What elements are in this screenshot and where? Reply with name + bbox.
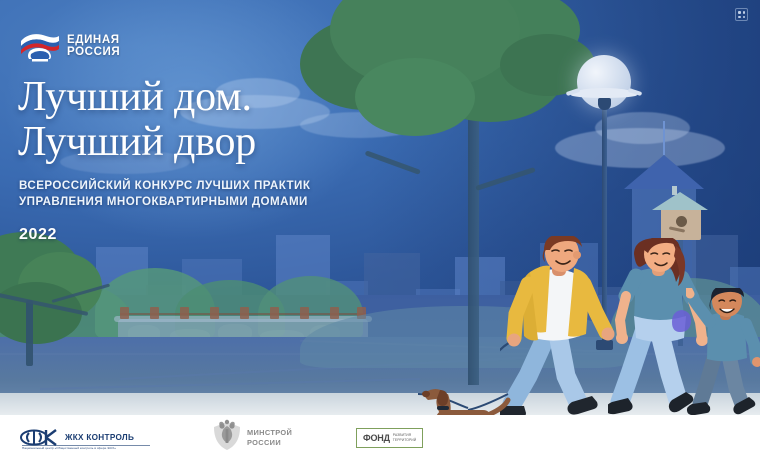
street-lamp-neck <box>598 98 611 110</box>
brand-logo-text: ЕДИНАЯ РОССИЯ <box>67 35 120 58</box>
minstroy-logo[interactable]: МИНСТРОЙ РОССИИ <box>212 419 292 456</box>
birdhouse-roof <box>652 192 708 210</box>
subtitle-line-2: УПРАВЛЕНИЯ МНОГОКВАРТИРНЫМИ ДОМАМИ <box>19 194 409 210</box>
page-title: Лучший дом. Лучший двор <box>18 75 418 165</box>
tower-spire <box>663 121 665 155</box>
footer-bar: ЖКХ КОНТРОЛЬ Национальный центр «Обществ… <box>0 415 760 460</box>
minstroy-text: МИНСТРОЙ РОССИИ <box>247 428 292 448</box>
zhkh-kontrol-logo[interactable]: ЖКХ КОНТРОЛЬ Национальный центр «Обществ… <box>20 429 134 446</box>
poster-text-block: ЕДИНАЯ РОССИЯ Лучший дом. Лучший двор ВС… <box>0 0 420 415</box>
subtitle-line-1: ВСЕРОССИЙСКИЙ КОНКУРС ЛУЧШИХ ПРАКТИК <box>19 178 409 194</box>
fond-word: ФОНД <box>363 433 390 443</box>
zhkh-kontrol-divider <box>22 445 150 446</box>
title-line-2: Лучший двор <box>18 120 418 165</box>
fond-subtext: РАЗВИТИЯ ТЕРРИТОРИЙ <box>393 433 416 442</box>
tree-trunk <box>468 95 479 385</box>
united-russia-bear-emblem-icon <box>20 30 60 64</box>
street-lamp-shade <box>571 88 637 98</box>
fond-logo[interactable]: ФОНД РАЗВИТИЯ ТЕРРИТОРИЙ <box>356 428 423 448</box>
poster-canvas: ЕДИНАЯ РОССИЯ Лучший дом. Лучший двор ВС… <box>0 0 760 460</box>
zhkh-kontrol-icon <box>20 429 60 446</box>
minstroy-line-2: РОССИИ <box>247 438 292 448</box>
russian-coat-of-arms-icon <box>212 419 242 456</box>
zhkh-kontrol-title: ЖКХ КОНТРОЛЬ <box>65 433 134 442</box>
tower-roof <box>624 155 704 189</box>
fond-line-2: ТЕРРИТОРИЙ <box>393 438 416 442</box>
title-line-1: Лучший дом. <box>18 75 418 120</box>
zhkh-kontrol-subtitle: Национальный центр «Общественный контрол… <box>22 446 150 450</box>
birdhouse-hole <box>676 216 687 227</box>
minstroy-line-1: МИНСТРОЙ <box>247 428 292 438</box>
fond-logo-box: ФОНД РАЗВИТИЯ ТЕРРИТОРИЙ <box>356 428 423 448</box>
brand-line-2: РОССИЯ <box>67 47 120 59</box>
brand-logo: ЕДИНАЯ РОССИЯ <box>20 30 120 64</box>
grid-squares-icon[interactable] <box>735 8 748 21</box>
year-label: 2022 <box>19 226 57 244</box>
birdhouse-chimney <box>672 186 677 195</box>
child-figure <box>686 288 760 424</box>
page-subtitle: ВСЕРОССИЙСКИЙ КОНКУРС ЛУЧШИХ ПРАКТИК УПР… <box>19 178 409 211</box>
